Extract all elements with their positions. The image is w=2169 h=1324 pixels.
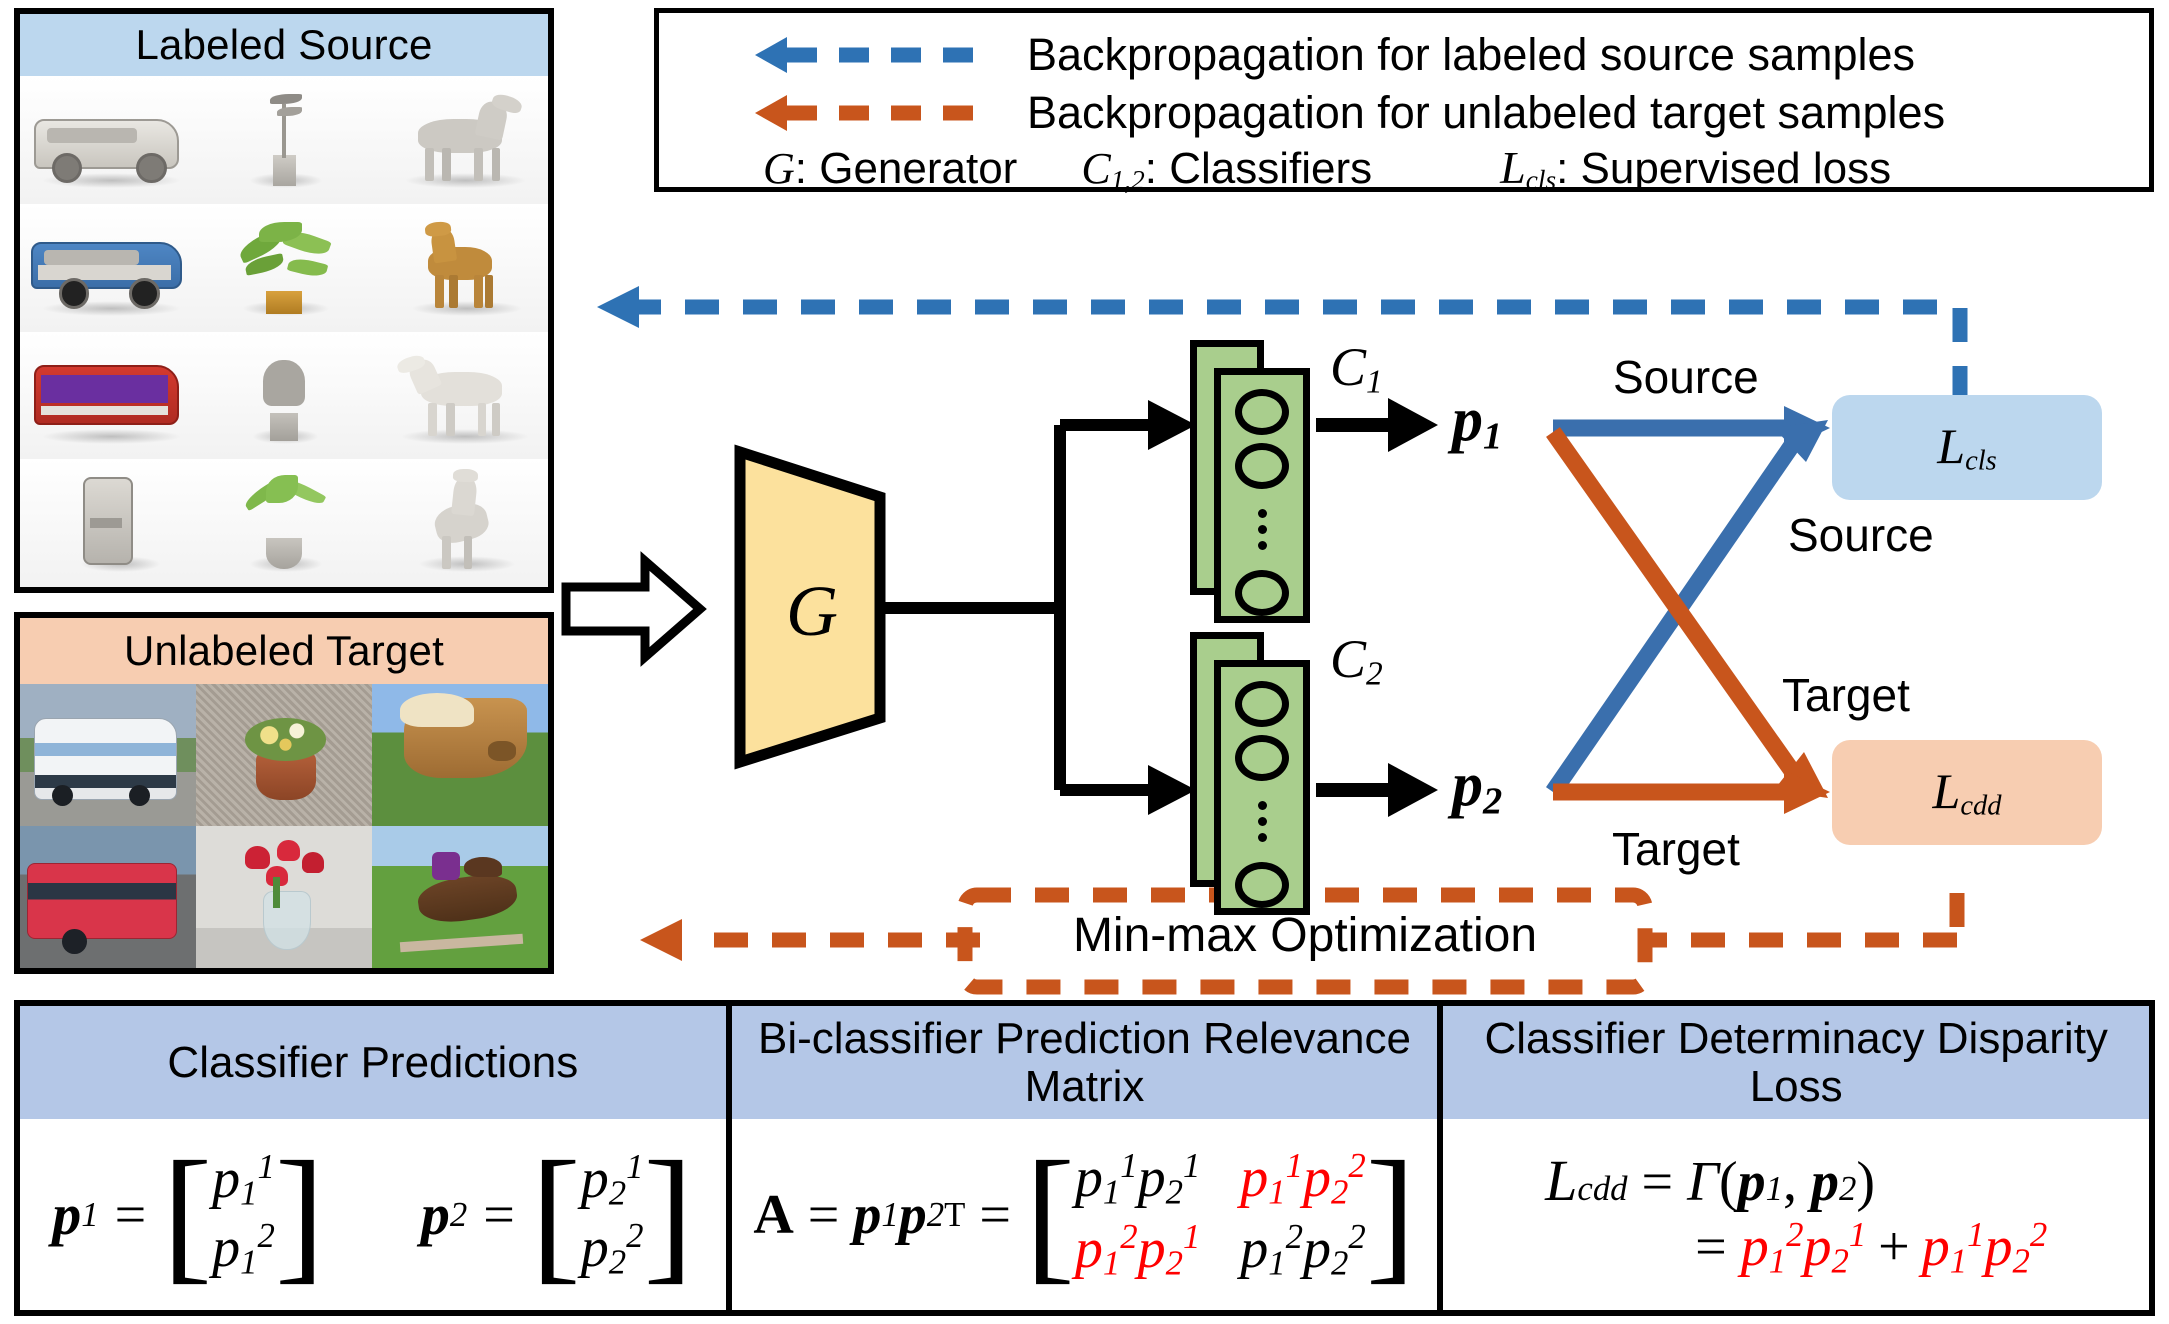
classifier-1-body <box>1214 368 1310 623</box>
loss-cls-box: Lcls <box>1832 395 2102 500</box>
edge-label-target-mid: Target <box>1782 668 1910 722</box>
legend-symbol-generator: G: Generator <box>763 143 1017 194</box>
source-image-cell <box>372 204 548 332</box>
table-header-classifier-predictions: Classifier Predictions <box>20 1006 726 1119</box>
source-image-cell <box>196 332 372 460</box>
legend-row-target: Backpropagation for unlabeled target sam… <box>751 87 1945 139</box>
table-column-cdd-loss: Classifier Determinacy Disparity Loss Lc… <box>1437 1006 2149 1310</box>
table-body-classifier-predictions: p1 = [ p11 p12 ] p2 = [ p21 p22 <box>20 1119 726 1310</box>
source-image-cell <box>372 76 548 204</box>
left-arrow-dashed-blue-icon <box>751 29 981 81</box>
legend-symbol-supervised-loss: Lcls: Supervised loss <box>1500 141 1891 196</box>
source-image-cell <box>20 204 196 332</box>
legend-label-target: Backpropagation for unlabeled target sam… <box>1027 87 1945 139</box>
target-image-cell <box>196 826 372 968</box>
edge-label-target-bottom: Target <box>1612 822 1740 876</box>
formula-relevance-matrix: A = p1p2T = [ p11p21 p11p22 p12p21 p12p2… <box>753 1146 1415 1283</box>
table-header-cdd-loss: Classifier Determinacy Disparity Loss <box>1443 1006 2149 1119</box>
input-arrow-icon <box>566 561 700 657</box>
table-column-classifier-predictions: Classifier Predictions p1 = [ p11 p12 ] … <box>20 1006 726 1310</box>
target-image-grid <box>20 684 548 968</box>
legend-row-source: Backpropagation for labeled source sampl… <box>751 29 1915 81</box>
classifier-1-block <box>1190 340 1320 630</box>
table-body-cdd-loss: Lcdd = Γ(p1, p2) = p12p21 + p11p22 <box>1443 1119 2149 1310</box>
source-image-cell <box>20 76 196 204</box>
edge-label-source-mid: Source <box>1788 508 1934 562</box>
script-L-glyph: L <box>1500 142 1526 193</box>
legend-panel: Backpropagation for labeled source sampl… <box>654 8 2154 192</box>
source-image-cell <box>196 76 372 204</box>
labeled-source-title: Labeled Source <box>20 14 548 76</box>
legend-label-source: Backpropagation for labeled source sampl… <box>1027 29 1915 81</box>
unlabeled-target-panel: Unlabeled Target <box>14 612 554 974</box>
classifier-2-body <box>1214 660 1310 915</box>
target-image-cell <box>372 826 548 968</box>
source-edge-p2-to-cls <box>1553 420 1828 792</box>
labeled-source-panel: Labeled Source <box>14 8 554 593</box>
loss-cdd-box: Lcdd <box>1832 740 2102 845</box>
source-image-cell <box>20 332 196 460</box>
left-arrow-dashed-orange-icon <box>751 87 981 139</box>
table-body-relevance-matrix: A = p1p2T = [ p11p21 p11p22 p12p21 p12p2… <box>732 1119 1438 1310</box>
table-header-relevance-matrix: Bi-classifier Prediction Relevance Matri… <box>732 1006 1438 1119</box>
generator-label: G <box>786 570 838 653</box>
source-edge-p1-to-cls <box>1553 406 1830 450</box>
formula-p2-vector: p2 = [ p21 p22 ] <box>421 1147 694 1282</box>
legend-symbol-classifiers: C1,2: Classifiers <box>1081 143 1372 196</box>
formula-table: Classifier Predictions p1 = [ p11 p12 ] … <box>14 1000 2155 1316</box>
classifier-2-block <box>1190 632 1320 922</box>
target-image-cell <box>20 684 196 826</box>
legend-symbols-row: G: Generator C1,2: Classifiers Lcls: Sup… <box>763 141 1891 196</box>
classifier-2-label: C2 <box>1330 628 1383 693</box>
source-image-cell <box>20 459 196 587</box>
source-image-grid <box>20 76 548 587</box>
classifier-1-label: C1 <box>1330 336 1383 401</box>
source-image-cell <box>372 459 548 587</box>
minmax-optimization-label: Min-max Optimization <box>965 908 1645 963</box>
unlabeled-target-title: Unlabeled Target <box>20 618 548 684</box>
edge-label-source-top: Source <box>1613 350 1759 404</box>
prediction-1-label: p1 <box>1452 385 1502 458</box>
table-column-relevance-matrix: Bi-classifier Prediction Relevance Matri… <box>726 1006 1438 1310</box>
formula-cdd-loss: Lcdd = Γ(p1, p2) = p12p21 + p11p22 <box>1545 1148 2047 1281</box>
source-image-cell <box>196 459 372 587</box>
target-image-cell <box>372 684 548 826</box>
target-image-cell <box>20 826 196 968</box>
target-edge-p2-to-cdd <box>1553 770 1830 814</box>
source-image-cell <box>372 332 548 460</box>
formula-p1-vector: p1 = [ p11 p12 ] <box>52 1147 325 1282</box>
target-image-cell <box>196 684 372 826</box>
prediction-2-label: p2 <box>1452 750 1502 823</box>
source-image-cell <box>196 204 372 332</box>
target-edge-p1-to-cdd <box>1553 432 1828 798</box>
